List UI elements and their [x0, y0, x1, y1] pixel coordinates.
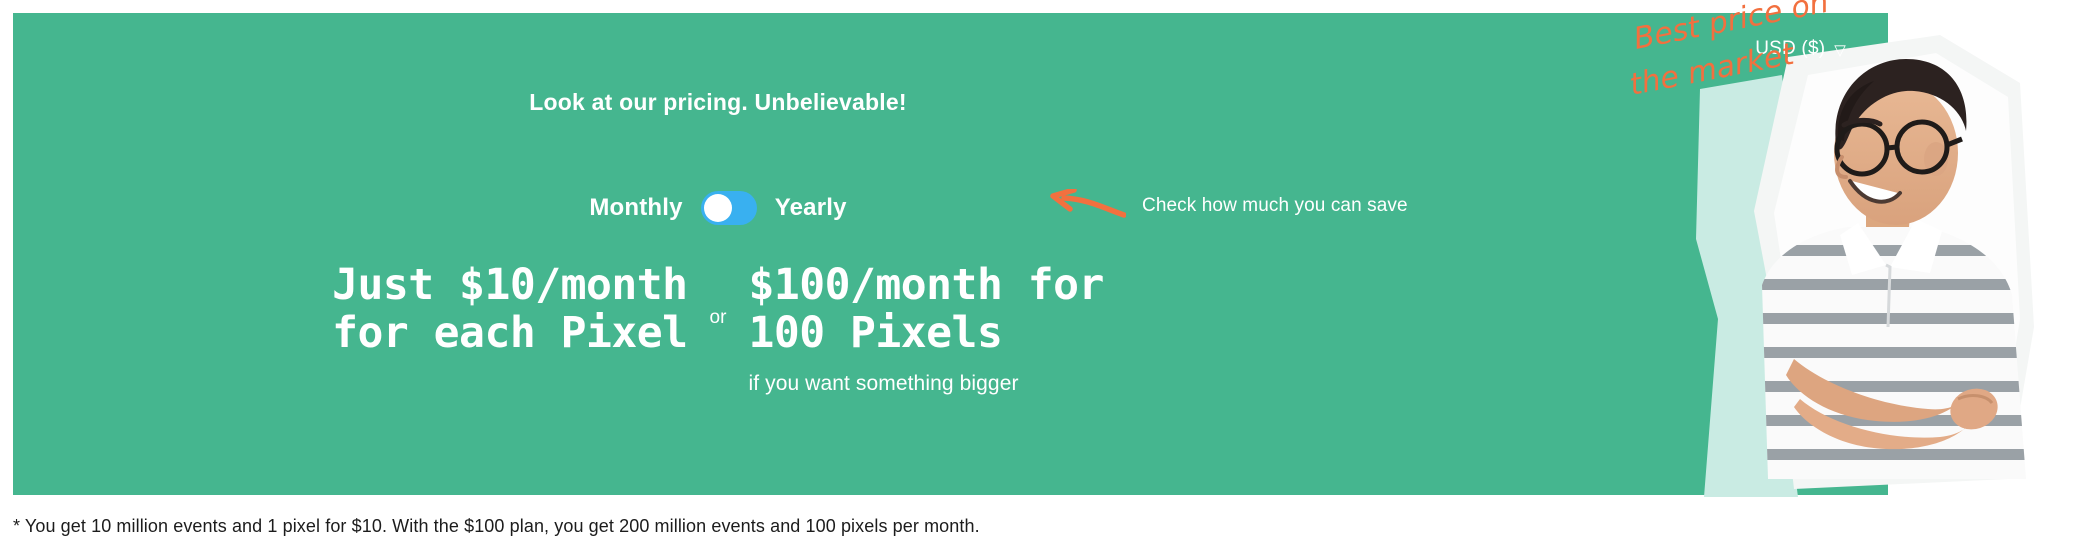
save-note-text: Check how much you can save	[1142, 195, 1408, 217]
plan-hundred-pixels: $100/month for 100 Pixels if you want so…	[748, 261, 1178, 396]
plan-hundred-line2: 100 Pixels	[748, 309, 1002, 357]
currency-selector[interactable]: USD ($) ▽	[1755, 38, 1846, 60]
save-note: Check how much you can save	[1048, 189, 1408, 223]
plan-separator: or	[710, 261, 727, 329]
billing-period-switch[interactable]	[701, 191, 757, 225]
plan-single-line2: for each Pixel	[332, 309, 687, 357]
plan-single-pixel: Just $10/month for each Pixel	[258, 261, 688, 357]
plan-hundred-subnote: if you want something bigger	[748, 372, 1018, 396]
curved-left-arrow-icon	[1048, 189, 1126, 223]
switch-knob[interactable]	[704, 194, 732, 222]
footnote-text: * You get 10 million events and 1 pixel …	[13, 516, 980, 537]
chevron-down-icon: ▽	[1834, 43, 1846, 58]
plan-single-line1: Just $10/month	[332, 261, 687, 309]
plan-hundred-line1: $100/month for	[748, 261, 1103, 309]
currency-label: USD ($)	[1755, 38, 1825, 60]
page-title: Look at our pricing. Unbelievable!	[13, 89, 1423, 116]
pricing-block: Just $10/month for each Pixel or $100/mo…	[13, 261, 1423, 396]
toggle-label-yearly[interactable]: Yearly	[775, 194, 847, 222]
toggle-label-monthly[interactable]: Monthly	[589, 194, 682, 222]
person-photo-collage	[1690, 27, 2080, 495]
pricing-banner: USD ($) ▽ Look at our pricing. Unbelieva…	[0, 0, 2080, 552]
pricing-hero-panel: USD ($) ▽ Look at our pricing. Unbelieva…	[13, 13, 1888, 495]
